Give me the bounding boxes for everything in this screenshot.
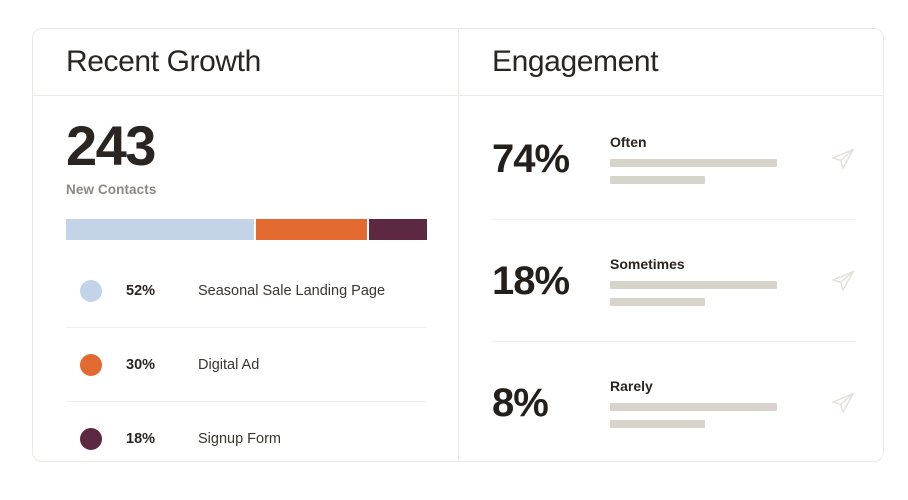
list-item[interactable]: 30% Digital Ad — [66, 328, 427, 402]
growth-legend: 52% Seasonal Sale Landing Page 30% Digit… — [66, 254, 427, 462]
engagement-header: Engagement — [459, 29, 884, 96]
legend-percent: 18% — [126, 431, 198, 447]
recent-growth-panel: Recent Growth 243 New Contacts 52% Seaso… — [33, 29, 459, 461]
send-icon[interactable] — [830, 146, 856, 172]
recent-growth-body: 243 New Contacts 52% Seasonal Sale Landi… — [33, 96, 458, 462]
engagement-panel: Engagement 74% Often 18% — [459, 29, 884, 461]
engagement-percent: 18% — [492, 261, 610, 301]
recent-growth-header: Recent Growth — [33, 29, 458, 96]
legend-label: Seasonal Sale Landing Page — [198, 283, 385, 299]
list-item[interactable]: 74% Often — [492, 98, 856, 220]
engagement-bar-primary — [610, 281, 777, 289]
engagement-percent: 8% — [492, 383, 610, 423]
engagement-label: Often — [610, 134, 816, 150]
engagement-percent: 74% — [492, 139, 610, 179]
send-icon[interactable] — [830, 390, 856, 416]
engagement-detail: Sometimes — [610, 256, 824, 306]
engagement-bar-secondary — [610, 420, 705, 428]
engagement-list: 74% Often 18% Sometimes — [492, 98, 856, 462]
stacked-bar-segment-seasonal[interactable] — [66, 219, 254, 240]
list-item[interactable]: 8% Rarely — [492, 342, 856, 462]
list-item[interactable]: 52% Seasonal Sale Landing Page — [66, 254, 427, 328]
page-title: Recent Growth — [66, 47, 261, 77]
legend-swatch-signup-form — [80, 428, 102, 450]
list-item[interactable]: 18% Signup Form — [66, 402, 427, 462]
engagement-bar-secondary — [610, 176, 705, 184]
engagement-bar-primary — [610, 403, 777, 411]
engagement-detail: Rarely — [610, 378, 824, 428]
dashboard-card: Recent Growth 243 New Contacts 52% Seaso… — [32, 28, 884, 462]
engagement-label: Rarely — [610, 378, 816, 394]
legend-percent: 30% — [126, 357, 198, 373]
stacked-bar-segment-signup-form[interactable] — [369, 219, 427, 240]
stacked-bar-chart — [66, 219, 427, 240]
growth-value: 243 — [66, 118, 425, 174]
legend-swatch-digital-ad — [80, 354, 102, 376]
stacked-bar-segment-digital-ad[interactable] — [256, 219, 367, 240]
send-icon[interactable] — [830, 268, 856, 294]
legend-label: Digital Ad — [198, 357, 259, 373]
legend-percent: 52% — [126, 283, 198, 299]
list-item[interactable]: 18% Sometimes — [492, 220, 856, 342]
legend-label: Signup Form — [198, 431, 281, 447]
engagement-bar-primary — [610, 159, 777, 167]
engagement-detail: Often — [610, 134, 824, 184]
legend-swatch-seasonal — [80, 280, 102, 302]
engagement-label: Sometimes — [610, 256, 816, 272]
growth-value-label: New Contacts — [66, 182, 425, 197]
engagement-body: 74% Often 18% Sometimes — [459, 96, 884, 462]
engagement-title: Engagement — [492, 47, 658, 77]
engagement-bar-secondary — [610, 298, 705, 306]
growth-stat-block: 243 New Contacts — [66, 96, 425, 197]
